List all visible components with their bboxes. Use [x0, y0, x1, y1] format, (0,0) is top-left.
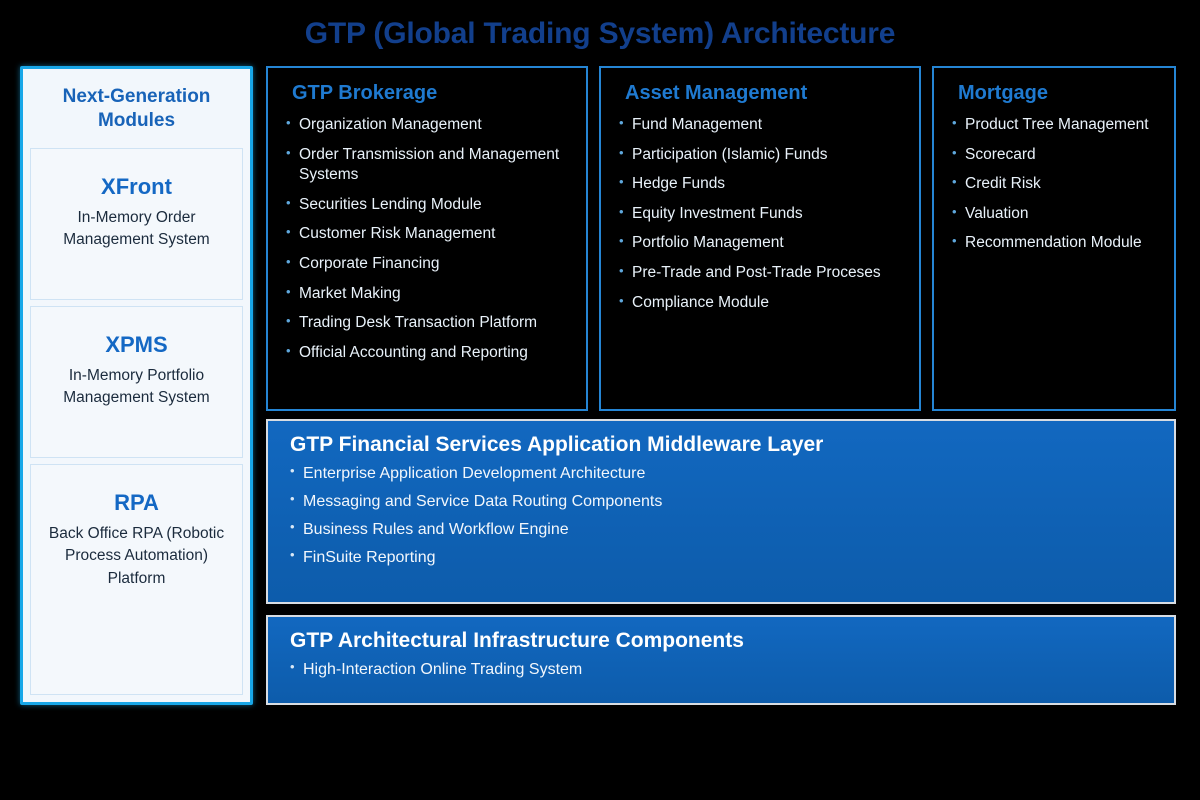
- band-title: GTP Architectural Infrastructure Compone…: [290, 629, 1158, 653]
- panel-asset-management: Asset Management Fund Management Partici…: [599, 66, 921, 411]
- next-generation-modules-sidebar: Next-Generation Modules XFront In-Memory…: [20, 66, 253, 705]
- module-card-xpms[interactable]: XPMS In-Memory Portfolio Management Syst…: [30, 306, 243, 458]
- panel-item-list: Fund Management Participation (Islamic) …: [619, 115, 905, 313]
- panel-title: Mortgage: [958, 82, 1160, 104]
- band-item-list: Enterprise Application Development Archi…: [290, 464, 1158, 568]
- panel-mortgage: Mortgage Product Tree Management Scoreca…: [932, 66, 1176, 411]
- panel-item-list: Organization Management Order Transmissi…: [286, 115, 572, 363]
- list-item: Participation (Islamic) Funds: [619, 145, 905, 166]
- list-item: Pre-Trade and Post-Trade Proceses: [619, 263, 905, 284]
- list-item: Product Tree Management: [952, 115, 1160, 136]
- band-middleware-layer: GTP Financial Services Application Middl…: [266, 419, 1176, 604]
- band-title: GTP Financial Services Application Middl…: [290, 433, 1158, 457]
- list-item: Fund Management: [619, 115, 905, 136]
- module-card-rpa[interactable]: RPA Back Office RPA (Robotic Process Aut…: [30, 464, 243, 695]
- module-description: In-Memory Portfolio Management System: [39, 365, 234, 410]
- band-item-list: High-Interaction Online Trading System: [290, 660, 1158, 681]
- list-item: Messaging and Service Data Routing Compo…: [290, 492, 1158, 513]
- list-item: Customer Risk Management: [286, 224, 572, 245]
- list-item: Business Rules and Workflow Engine: [290, 520, 1158, 541]
- list-item: Scorecard: [952, 145, 1160, 166]
- list-item: Equity Investment Funds: [619, 204, 905, 225]
- list-item: Market Making: [286, 284, 572, 305]
- module-description: In-Memory Order Management System: [39, 207, 234, 252]
- list-item: High-Interaction Online Trading System: [290, 660, 1158, 681]
- panel-title: Asset Management: [625, 82, 905, 104]
- list-item: FinSuite Reporting: [290, 548, 1158, 569]
- list-item: Portfolio Management: [619, 233, 905, 254]
- list-item: Compliance Module: [619, 293, 905, 314]
- list-item: Official Accounting and Reporting: [286, 343, 572, 364]
- panel-title: GTP Brokerage: [292, 82, 572, 104]
- module-description: Back Office RPA (Robotic Process Automat…: [39, 523, 234, 590]
- list-item: Hedge Funds: [619, 174, 905, 195]
- page-title: GTP (Global Trading System) Architecture: [0, 17, 1200, 51]
- list-item: Valuation: [952, 204, 1160, 225]
- list-item: Order Transmission and Management System…: [286, 145, 572, 186]
- band-infrastructure-components: GTP Architectural Infrastructure Compone…: [266, 615, 1176, 705]
- list-item: Organization Management: [286, 115, 572, 136]
- list-item: Securities Lending Module: [286, 195, 572, 216]
- panel-gtp-brokerage: GTP Brokerage Organization Management Or…: [266, 66, 588, 411]
- module-card-xfront[interactable]: XFront In-Memory Order Management System: [30, 148, 243, 300]
- list-item: Recommendation Module: [952, 233, 1160, 254]
- module-name: XPMS: [105, 333, 167, 357]
- sidebar-module-list: XFront In-Memory Order Management System…: [23, 148, 250, 702]
- list-item: Corporate Financing: [286, 254, 572, 275]
- module-name: RPA: [114, 491, 159, 515]
- list-item: Trading Desk Transaction Platform: [286, 313, 572, 334]
- list-item: Credit Risk: [952, 174, 1160, 195]
- sidebar-header: Next-Generation Modules: [23, 69, 250, 148]
- panel-item-list: Product Tree Management Scorecard Credit…: [952, 115, 1160, 254]
- module-name: XFront: [101, 175, 172, 199]
- list-item: Enterprise Application Development Archi…: [290, 464, 1158, 485]
